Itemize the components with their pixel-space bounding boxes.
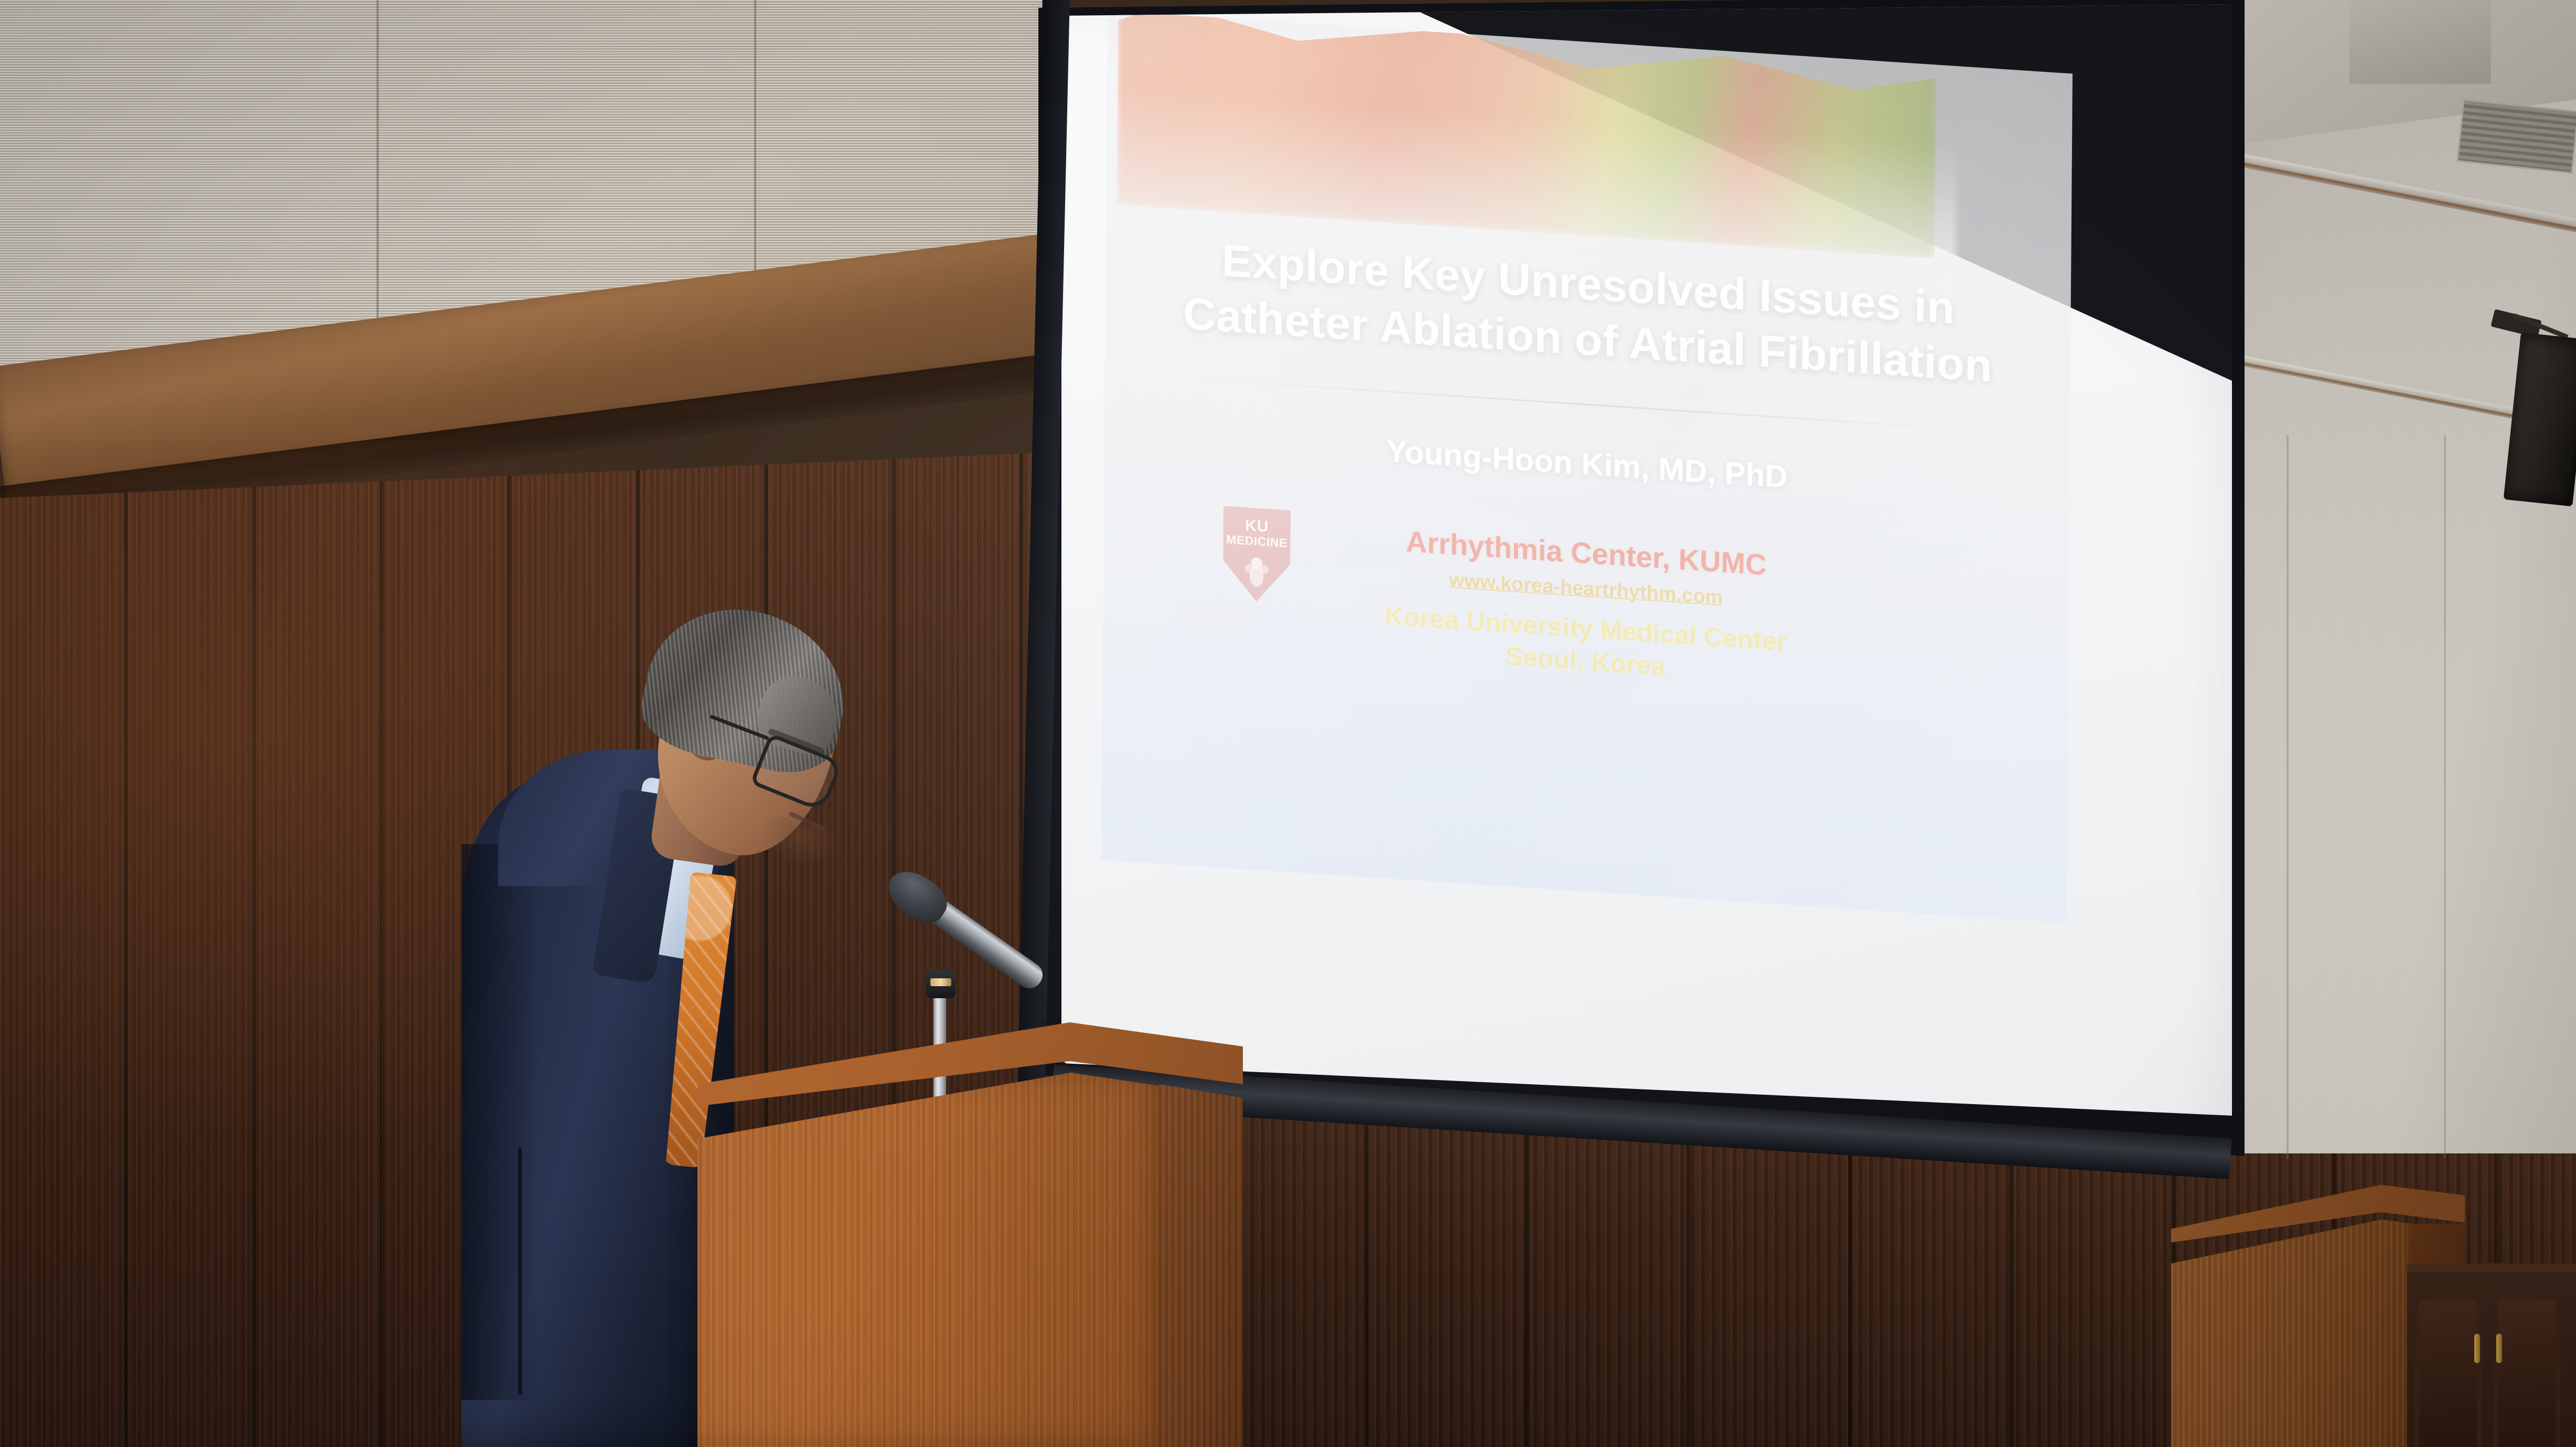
cabinet-handle-right [2496,1334,2502,1363]
lectern-secondary-front [2171,1219,2418,1447]
lectern-front-panel [697,1073,1169,1447]
slide-divider-rule [1197,378,1973,430]
chin-shadow [755,812,842,876]
suit-arm-shadow [461,844,540,1400]
cabinet-handle-left [2474,1334,2480,1363]
slide-author-name: Young-Hoon Kim, MD, PhD [1104,414,2070,514]
suit-jacket-vent [518,1148,522,1395]
projection-screen: Explore Key Unresolved Issues in Cathete… [1038,0,2245,1185]
cabinet-door-right [2493,1295,2560,1447]
cabinet-door-left [2414,1295,2482,1447]
ceiling-panel-notch [2349,0,2491,84]
projected-slide: Explore Key Unresolved Issues in Cathete… [1101,10,2073,923]
lectern-side-panel [1159,1084,1243,1447]
lectern-primary [697,1022,1243,1447]
microphone-stand-collar [930,978,951,986]
wood-cabinet [2407,1264,2576,1447]
ceiling-air-vent [2456,99,2576,174]
head [628,613,849,860]
screen-surface: Explore Key Unresolved Issues in Cathete… [1061,4,2232,1142]
conference-photo-scene: Explore Key Unresolved Issues in Cathete… [0,0,2576,1447]
